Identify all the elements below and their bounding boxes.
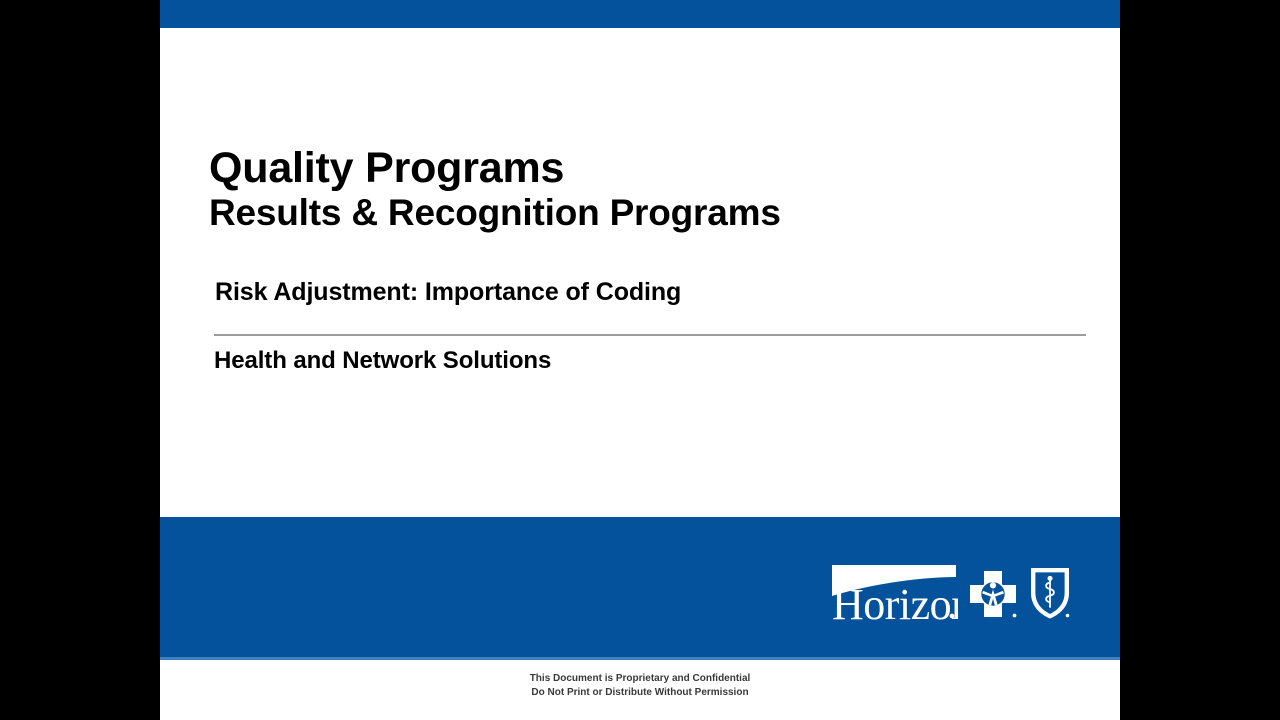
- confidentiality-footer: This Document is Proprietary and Confide…: [160, 672, 1120, 699]
- bottom-brand-band: Horizon: [160, 517, 1120, 660]
- title-line-secondary: Results & Recognition Programs: [209, 191, 1089, 235]
- svg-text:Horizon: Horizon: [832, 580, 958, 623]
- footer-line-1: This Document is Proprietary and Confide…: [160, 672, 1120, 686]
- horizon-wordmark: Horizon: [830, 563, 958, 623]
- department-label: Health and Network Solutions: [214, 347, 551, 375]
- slide-canvas: Quality Programs Results & Recognition P…: [160, 0, 1120, 720]
- slide-subtitle: Risk Adjustment: Importance of Coding: [215, 278, 681, 307]
- blue-cross-icon: [967, 569, 1019, 623]
- horizontal-divider: [214, 334, 1086, 336]
- title-line-primary: Quality Programs: [209, 147, 1089, 191]
- presentation-stage: Quality Programs Results & Recognition P…: [0, 0, 1280, 720]
- footer-line-2: Do Not Print or Distribute Without Permi…: [160, 686, 1120, 700]
- blue-shield-icon: [1028, 565, 1072, 623]
- horizon-bcbs-logo-lockup: Horizon: [830, 561, 1072, 623]
- top-accent-band: [160, 0, 1120, 28]
- page-title: Quality Programs Results & Recognition P…: [209, 147, 1089, 235]
